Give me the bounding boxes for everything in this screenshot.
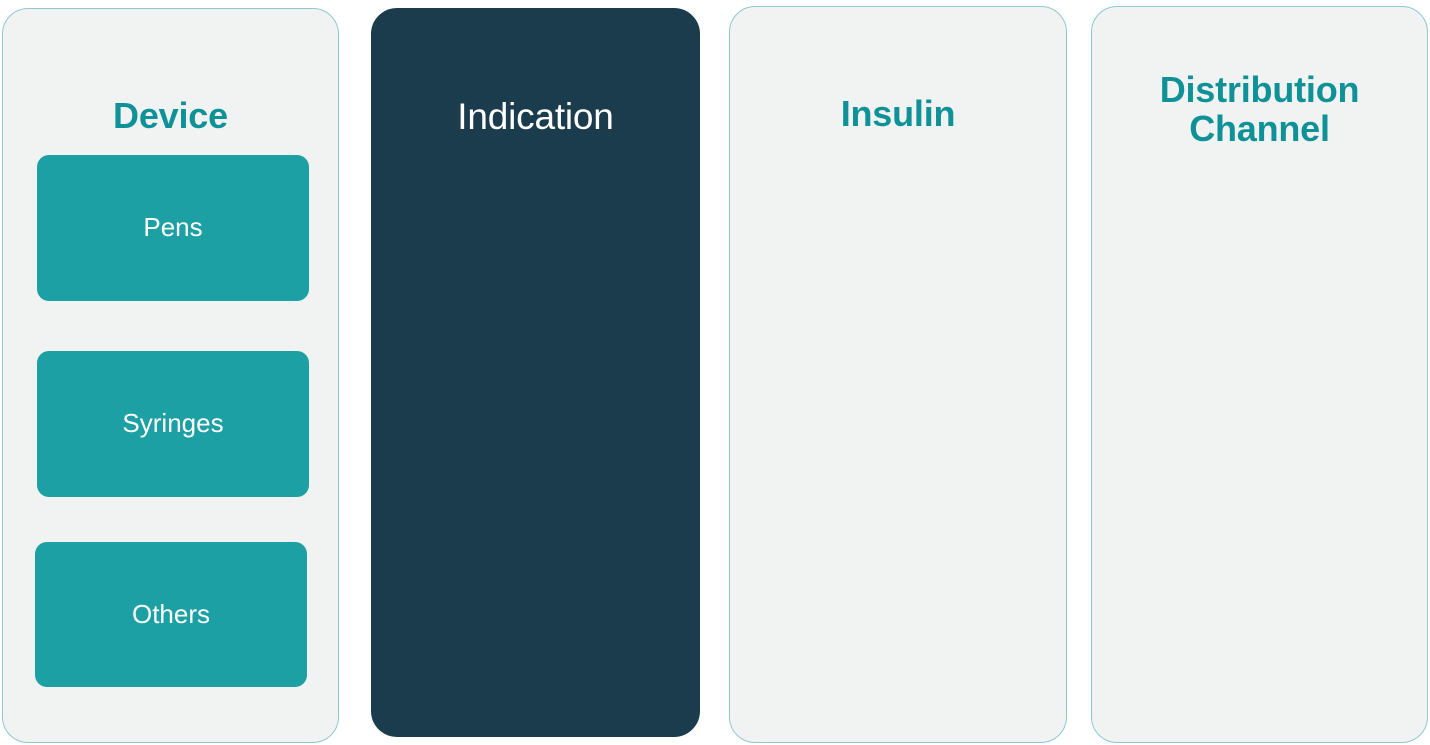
- column-title-insulin: Insulin: [730, 95, 1066, 134]
- segment-item-pens[interactable]: Pens: [37, 155, 309, 301]
- segmentation-diagram: Device Pens Syringes Others Indication T…: [0, 0, 1430, 745]
- column-title-indication: Indication: [372, 97, 699, 137]
- segment-column-indication: Indication Type 1 Diabetes Type 2 Diabet…: [371, 8, 700, 737]
- segment-column-device: Device Pens Syringes Others: [2, 8, 339, 743]
- segment-item-syringes[interactable]: Syringes: [37, 351, 309, 497]
- segment-column-insulin: Insulin Rapid-acting insulin Short-actin…: [729, 6, 1067, 743]
- segment-item-device-others[interactable]: Others: [35, 542, 307, 687]
- segment-column-distribution-channel: Distribution Channel Hospital Pharmacies…: [1091, 6, 1428, 743]
- column-title-device: Device: [3, 97, 338, 136]
- column-title-distribution-channel: Distribution Channel: [1092, 71, 1427, 149]
